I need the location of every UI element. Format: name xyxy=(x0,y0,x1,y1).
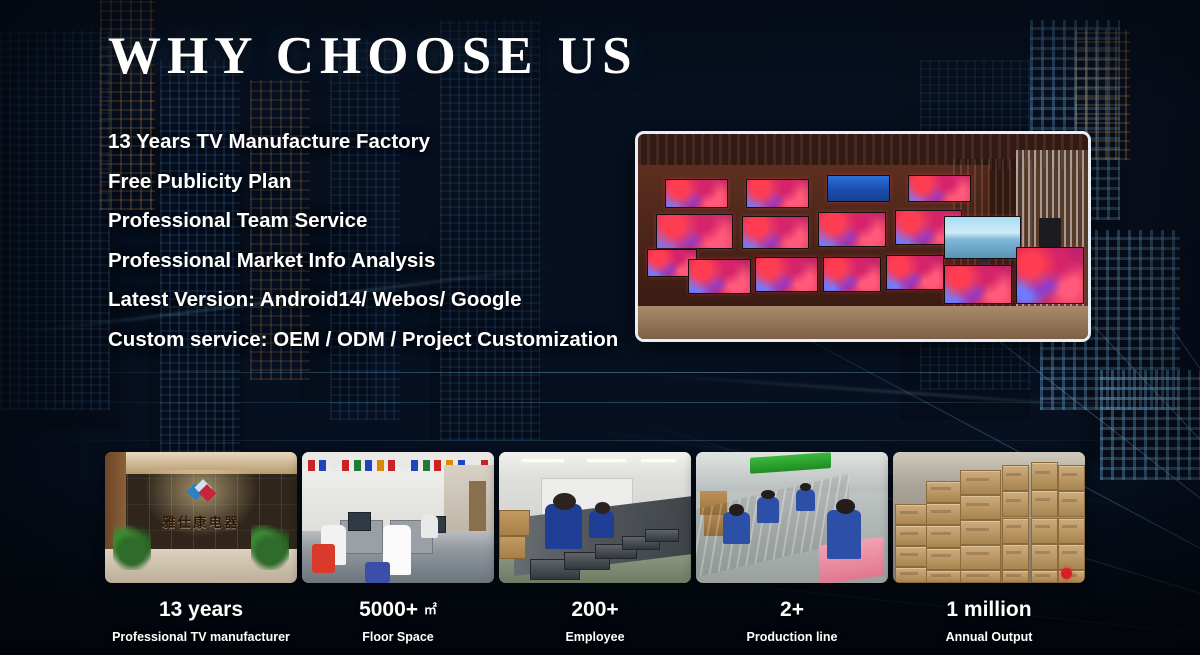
cardboard-box xyxy=(895,525,928,546)
stats-row: 雅仕康电器 YASHIKANG ELECTRONICS 13 years Pro… xyxy=(105,452,1095,644)
cardboard-box xyxy=(1058,544,1085,570)
stat-item: 2+ Production line xyxy=(696,452,888,644)
why-choose-us-banner: WHY CHOOSE US 13 Years TV Manufacture Fa… xyxy=(0,0,1200,655)
cardboard-box xyxy=(499,510,530,536)
stat-item: 200+ Employee xyxy=(499,452,691,644)
cardboard-box xyxy=(926,503,962,525)
feature-item: Professional Market Info Analysis xyxy=(108,241,618,281)
stat-number-value: 2+ xyxy=(780,598,804,621)
floor-tv xyxy=(886,255,945,290)
cardboard-box xyxy=(926,481,962,503)
stat-item: 5000+ ㎡ Floor Space xyxy=(302,452,494,644)
worker-head xyxy=(761,490,774,499)
foreground-tv xyxy=(944,265,1012,304)
wall-tv xyxy=(746,179,809,208)
factory-worker xyxy=(589,510,614,539)
cardboard-box xyxy=(1002,465,1029,491)
cardboard-box xyxy=(1031,544,1058,570)
company-lobby-photo: 雅仕康电器 YASHIKANG ELECTRONICS xyxy=(105,452,297,583)
featured-tv xyxy=(944,216,1021,259)
foreground-tv xyxy=(1016,247,1084,304)
floor-tv xyxy=(688,259,751,294)
office-worker xyxy=(421,515,438,539)
office-chair xyxy=(312,544,335,573)
stat-number: 13 years xyxy=(105,598,297,622)
red-marker-icon xyxy=(1061,568,1072,579)
production-line-photo xyxy=(696,452,888,583)
office-monitor xyxy=(348,512,371,530)
company-name-en: YASHIKANG ELECTRONICS xyxy=(143,535,258,541)
wall-tv xyxy=(827,175,890,202)
office-chair xyxy=(365,562,390,583)
cardboard-box xyxy=(1058,518,1085,544)
showroom-floor xyxy=(638,306,1088,339)
cardboard-box xyxy=(1031,490,1058,518)
wall-tv xyxy=(665,179,728,208)
cardboard-box xyxy=(1002,518,1029,544)
stat-label: Employee xyxy=(499,630,691,644)
stat-label: Floor Space xyxy=(302,630,494,644)
tv-panel xyxy=(645,529,680,542)
cardboard-box xyxy=(960,570,1000,583)
cardboard-box xyxy=(1002,491,1029,517)
factory-ceiling xyxy=(499,452,691,481)
cardboard-box xyxy=(960,545,1000,570)
cardboard-box xyxy=(1031,518,1058,544)
floor-tv xyxy=(823,257,882,292)
wall-tv xyxy=(818,212,886,247)
warehouse-boxes-photo xyxy=(893,452,1085,583)
worker-head xyxy=(836,499,855,513)
line-worker xyxy=(796,489,815,511)
showroom-photo xyxy=(635,131,1091,342)
stat-number: 200+ xyxy=(499,598,691,622)
company-logo-icon xyxy=(189,481,214,503)
cardboard-box xyxy=(960,495,1000,520)
assembly-bench-photo xyxy=(499,452,691,583)
cardboard-box xyxy=(1002,570,1029,583)
stat-number-value: 5000+ xyxy=(359,598,418,621)
stat-item: 雅仕康电器 YASHIKANG ELECTRONICS 13 years Pro… xyxy=(105,452,297,644)
stat-label: Annual Output xyxy=(893,630,1085,644)
factory-worker xyxy=(545,504,581,549)
stat-number: 2+ xyxy=(696,598,888,622)
wall-tv xyxy=(908,175,971,202)
feature-list: 13 Years TV Manufacture Factory Free Pub… xyxy=(108,122,618,359)
company-name-cn: 雅仕康电器 xyxy=(143,512,258,531)
page-title: WHY CHOOSE US xyxy=(108,26,638,86)
stat-number-value: 200+ xyxy=(571,598,618,621)
cardboard-box xyxy=(499,536,526,560)
cardboard-box xyxy=(926,548,962,570)
cardboard-box xyxy=(1058,465,1085,491)
worker-head xyxy=(553,493,576,510)
stat-number-value: 1 million xyxy=(946,598,1031,621)
feature-item: Latest Version: Android14/ Webos/ Google xyxy=(108,280,618,320)
cardboard-box xyxy=(1031,462,1058,490)
feature-item: Custom service: OEM / ODM / Project Cust… xyxy=(108,320,618,360)
feature-item: Free Publicity Plan xyxy=(108,162,618,202)
cardboard-box xyxy=(1031,570,1058,583)
cardboard-box xyxy=(895,567,928,583)
stat-label: Production line xyxy=(696,630,888,644)
office-door xyxy=(469,481,486,536)
line-worker xyxy=(723,512,750,543)
cardboard-box xyxy=(926,570,962,583)
wall-tv xyxy=(656,214,733,249)
line-worker xyxy=(827,510,862,560)
stat-number: 1 million xyxy=(893,598,1085,622)
showroom-photo-content xyxy=(638,134,1088,339)
cardboard-box xyxy=(926,525,962,547)
wall-tv xyxy=(742,216,810,249)
line-worker xyxy=(757,497,778,523)
cardboard-box xyxy=(1058,491,1085,517)
feature-item: 13 Years TV Manufacture Factory xyxy=(108,122,618,162)
stat-number-unit: ㎡ xyxy=(424,602,437,617)
ceiling-light xyxy=(522,459,564,462)
ceiling-light xyxy=(587,459,625,462)
stat-number: 5000+ ㎡ xyxy=(302,598,494,622)
cardboard-box xyxy=(960,520,1000,545)
feature-item: Professional Team Service xyxy=(108,201,618,241)
cardboard-box xyxy=(960,470,1000,495)
cardboard-box xyxy=(1002,544,1029,570)
cardboard-box xyxy=(895,546,928,567)
office-workspace-photo xyxy=(302,452,494,583)
worker-head xyxy=(729,504,744,516)
stat-label: Professional TV manufacturer xyxy=(105,630,297,644)
floor-tv xyxy=(755,257,818,292)
cardboard-box xyxy=(895,504,928,525)
stat-item: 1 million Annual Output xyxy=(893,452,1085,644)
worker-head xyxy=(595,502,610,514)
speaker xyxy=(1039,218,1062,247)
lobby-plant xyxy=(113,525,151,570)
lobby-plant xyxy=(251,525,289,570)
ceiling-light xyxy=(641,459,676,462)
stat-number-value: 13 years xyxy=(159,598,243,621)
